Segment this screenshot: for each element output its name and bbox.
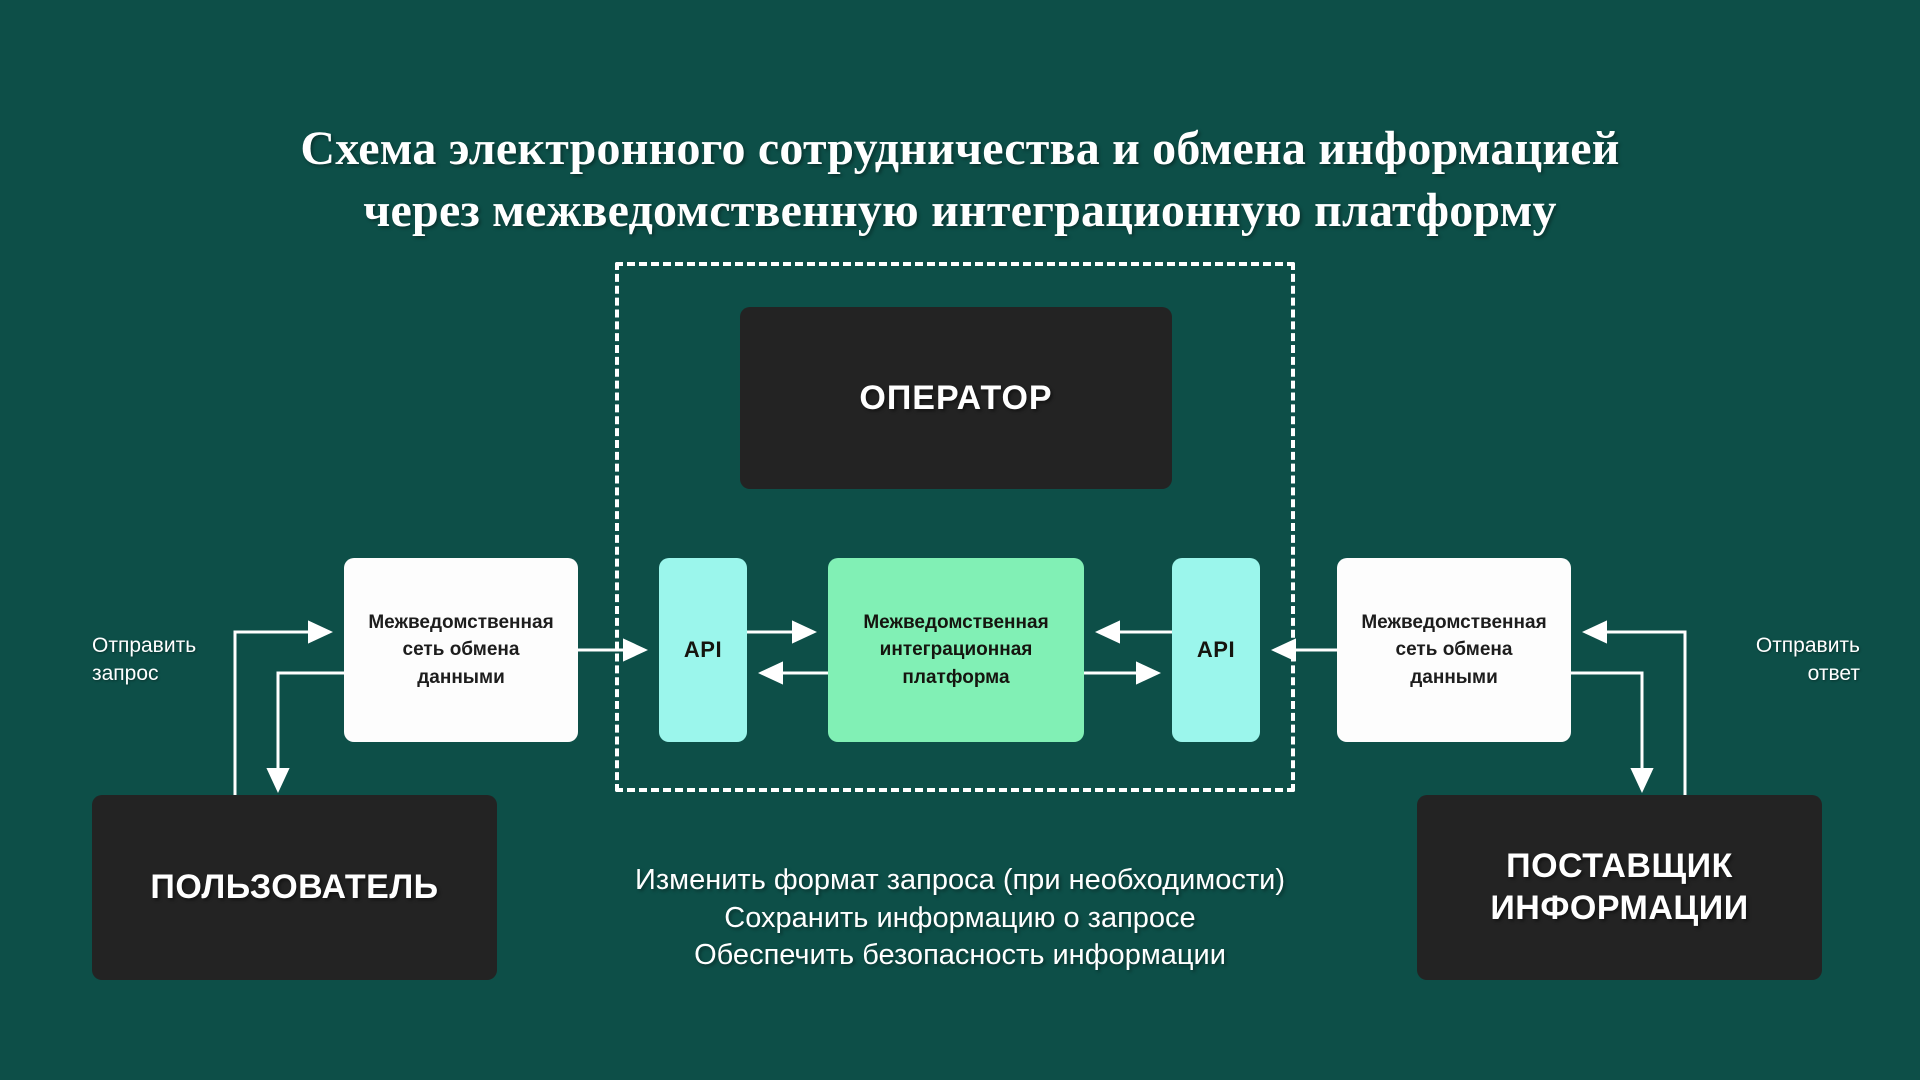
node-mesh-network-right[interactable]: Межведомственная сеть обмена данными — [1337, 558, 1571, 742]
label-send-answer-line-2: ответ — [1808, 662, 1860, 685]
label-send-answer-line-1: Отправить — [1756, 634, 1860, 657]
node-mesh-right-line-2: сеть обмена — [1396, 639, 1513, 660]
node-mesh-network-left[interactable]: Межведомственная сеть обмена данными — [344, 558, 578, 742]
node-supplier-line-2: ИНФОРМАЦИИ — [1490, 889, 1748, 927]
operator-task-2: Сохранить информацию о запросе — [480, 900, 1440, 938]
node-mesh-left-line-1: Межведомственная — [368, 612, 553, 633]
operator-tasks-list: Изменить формат запроса (при необходимос… — [480, 862, 1440, 975]
operator-task-3: Обеспечить безопасность информации — [480, 937, 1440, 975]
title-line-1: Схема электронного сотрудничества и обме… — [0, 118, 1920, 179]
node-operator[interactable]: ОПЕРАТОР — [740, 307, 1172, 489]
node-platform-line-3: платформа — [902, 667, 1009, 688]
node-api-right-label: API — [1187, 637, 1245, 663]
node-mesh-right-line-1: Межведомственная — [1361, 612, 1546, 633]
node-mesh-left-line-3: данными — [417, 667, 505, 688]
node-supplier-line-1: ПОСТАВЩИК — [1506, 847, 1733, 885]
page-title: Схема электронного сотрудничества и обме… — [0, 118, 1920, 241]
label-send-request-line-1: Отправить — [92, 634, 196, 657]
node-user-label: ПОЛЬЗОВАТЕЛЬ — [140, 868, 448, 907]
diagram-canvas: Схема электронного сотрудничества и обме… — [0, 0, 1920, 1080]
node-api-right[interactable]: API — [1172, 558, 1260, 742]
node-platform-line-1: Межведомственная — [863, 612, 1048, 633]
node-information-supplier[interactable]: ПОСТАВЩИК ИНФОРМАЦИИ — [1417, 795, 1822, 980]
node-mesh-right-line-3: данными — [1410, 667, 1498, 688]
operator-task-1: Изменить формат запроса (при необходимос… — [480, 862, 1440, 900]
node-platform-line-2: интеграционная — [880, 639, 1033, 660]
label-send-answer: Отправить ответ — [1700, 632, 1860, 687]
node-api-left[interactable]: API — [659, 558, 747, 742]
node-mesh-left-line-2: сеть обмена — [403, 639, 520, 660]
node-integration-platform[interactable]: Межведомственная интеграционная платформ… — [828, 558, 1084, 742]
label-send-request-line-2: запрос — [92, 662, 159, 685]
node-api-left-label: API — [674, 637, 732, 663]
label-send-request: Отправить запрос — [92, 632, 242, 687]
node-user[interactable]: ПОЛЬЗОВАТЕЛЬ — [92, 795, 497, 980]
title-line-2: через межведомственную интеграционную пл… — [0, 180, 1920, 241]
node-operator-label: ОПЕРАТОР — [849, 379, 1062, 418]
